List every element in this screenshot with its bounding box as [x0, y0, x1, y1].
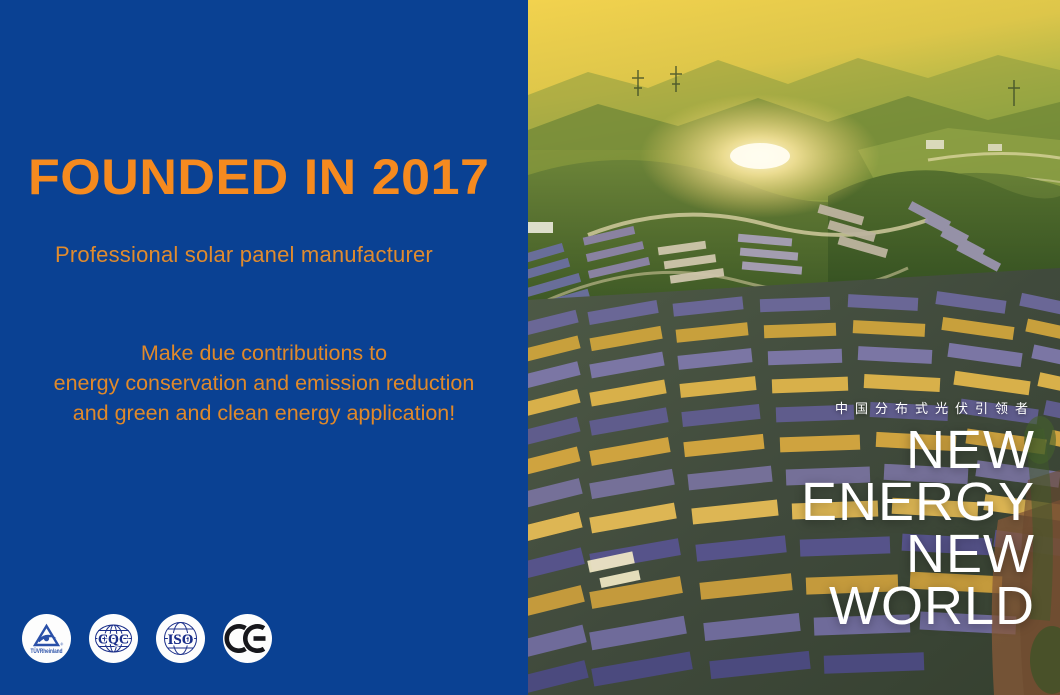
- tuv-rheinland-badge-icon: ® TÜVRheinland: [22, 614, 71, 663]
- mission-line-3: and green and clean energy application!: [0, 398, 528, 428]
- iso-badge-icon: ISO ISO: [156, 614, 205, 663]
- svg-text:ISO: ISO: [168, 632, 194, 648]
- subtitle: Professional solar panel manufacturer: [55, 242, 433, 268]
- chinese-tagline: 中国分布式光伏引领者: [835, 398, 1035, 417]
- svg-text:TÜVRheinland: TÜVRheinland: [31, 648, 63, 655]
- slogan-line-4: WORLD: [801, 580, 1035, 632]
- mission-line-1: Make due contributions to: [0, 338, 528, 368]
- slogan-line-1: NEW: [801, 424, 1035, 476]
- ce-badge-icon: [223, 614, 272, 663]
- slogan-block: NEW ENERGY NEW WORLD: [801, 424, 1035, 632]
- slogan-line-2: ENERGY: [801, 476, 1035, 528]
- page-title: FOUNDED IN 2017: [28, 148, 489, 206]
- mission-line-2: energy conservation and emission reducti…: [0, 368, 528, 398]
- certification-badges: ® TÜVRheinland CQC CQC: [22, 614, 272, 663]
- solar-farm-photo: 中国分布式光伏引领者 NEW ENERGY NEW WORLD: [528, 0, 1060, 695]
- promo-banner: FOUNDED IN 2017 Professional solar panel…: [0, 0, 1060, 695]
- svg-text:®: ®: [60, 642, 63, 647]
- mission-statement: Make due contributions to energy conserv…: [0, 338, 528, 428]
- left-text-panel: FOUNDED IN 2017 Professional solar panel…: [0, 0, 528, 695]
- svg-text:CQC: CQC: [98, 633, 129, 648]
- slogan-line-3: NEW: [801, 528, 1035, 580]
- cqc-badge-icon: CQC CQC: [89, 614, 138, 663]
